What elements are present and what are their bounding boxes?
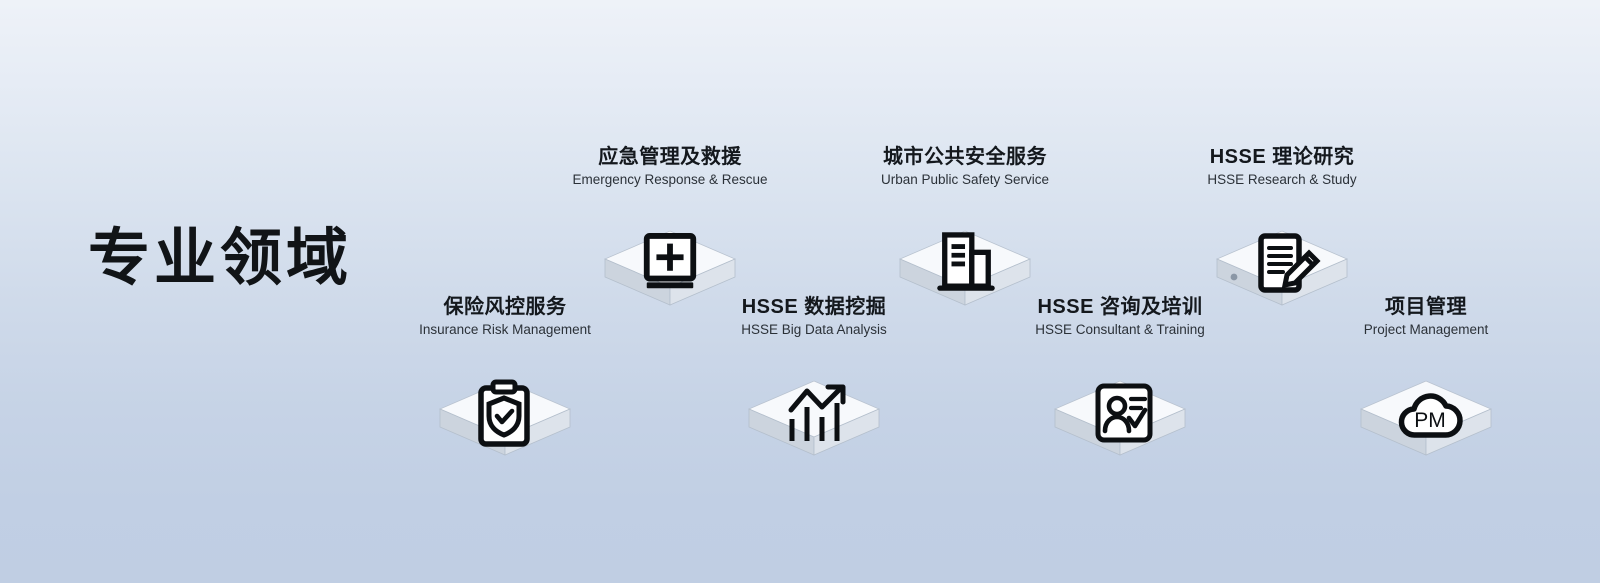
domain-label-cn: 应急管理及救援 [540, 145, 800, 169]
domain-label-cn: 城市公共安全服务 [835, 145, 1095, 169]
domain-label-cn: HSSE 理论研究 [1152, 145, 1412, 169]
domain-label: 保险风控服务 Insurance Risk Management [375, 295, 635, 339]
domain-item-urban-public-safety-service[interactable]: 城市公共安全服务 Urban Public Safety Service [835, 145, 1095, 311]
domain-icon-pedestal [1052, 353, 1188, 461]
domain-item-hsse-consultant-training[interactable]: HSSE 咨询及培训 HSSE Consultant & Training [990, 295, 1250, 461]
domain-item-emergency-response-rescue[interactable]: 应急管理及救援 Emergency Response & Rescue [540, 145, 800, 311]
domain-label: HSSE 数据挖掘 HSSE Big Data Analysis [684, 295, 944, 339]
domain-item-insurance-risk-management[interactable]: 保险风控服务 Insurance Risk Management [375, 295, 635, 461]
domain-icon-pedestal [746, 353, 882, 461]
domain-label: 项目管理 Project Management [1296, 295, 1556, 339]
domain-label-en: Urban Public Safety Service [835, 171, 1095, 189]
domain-label: 城市公共安全服务 Urban Public Safety Service [835, 145, 1095, 189]
domain-label-en: HSSE Consultant & Training [990, 321, 1250, 339]
page-title: 专业领域 [88, 228, 352, 290]
domain-label-en: Insurance Risk Management [375, 321, 635, 339]
domain-item-project-management[interactable]: 项目管理 Project Management PM [1296, 295, 1556, 461]
domain-label-en: Project Management [1296, 321, 1556, 339]
domain-label-en: Emergency Response & Rescue [540, 171, 800, 189]
domain-label-cn: 项目管理 [1296, 295, 1556, 319]
domain-label-cn: 保险风控服务 [375, 295, 635, 319]
isometric-slab [1052, 379, 1188, 461]
domain-item-hsse-research-study[interactable]: HSSE 理论研究 HSSE Research & Study [1152, 145, 1412, 311]
domain-item-hsse-big-data-analysis[interactable]: HSSE 数据挖掘 HSSE Big Data Analysis [684, 295, 944, 461]
domain-label: HSSE 咨询及培训 HSSE Consultant & Training [990, 295, 1250, 339]
domain-label-cn: HSSE 咨询及培训 [990, 295, 1250, 319]
domain-label-en: HSSE Research & Study [1152, 171, 1412, 189]
isometric-slab [437, 379, 573, 461]
domain-icon-pedestal [437, 353, 573, 461]
isometric-slab [1358, 379, 1494, 461]
domain-label: HSSE 理论研究 HSSE Research & Study [1152, 145, 1412, 189]
domain-label: 应急管理及救援 Emergency Response & Rescue [540, 145, 800, 189]
domain-label-cn: HSSE 数据挖掘 [684, 295, 944, 319]
isometric-slab [746, 379, 882, 461]
domain-label-en: HSSE Big Data Analysis [684, 321, 944, 339]
domain-icon-pedestal: PM [1358, 353, 1494, 461]
professional-domains-banner: 专业领域 应急管理及救援 Emergency Response & Rescue [0, 0, 1600, 583]
